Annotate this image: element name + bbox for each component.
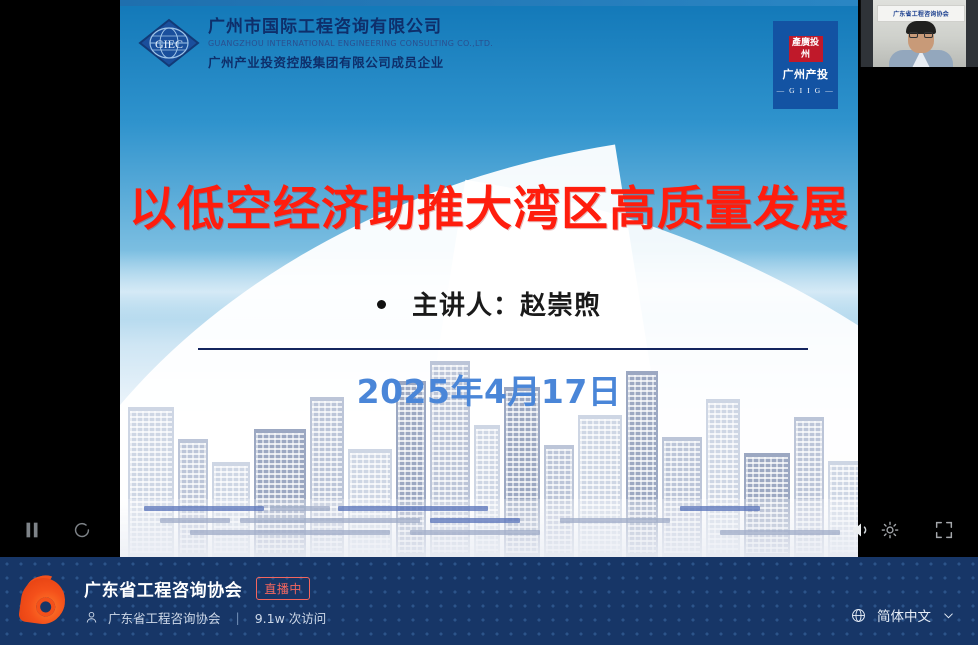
channel-info-bar: 广东省工程咨询协会 直播中 广东省工程咨询协会 | 9.1w 次访问 简体中文 xyxy=(0,557,978,645)
host-name: 广东省工程咨询协会 xyxy=(108,608,221,627)
company-name-en: GUANGZHOU INTERNATIONAL ENGINEERING CONS… xyxy=(208,39,493,48)
video-player[interactable]: GIEC 广州市国际工程咨询有限公司 GUANGZHOU INTERNATION… xyxy=(0,0,978,557)
pause-icon xyxy=(21,519,43,541)
pause-button[interactable] xyxy=(20,518,44,542)
channel-meta-row: 广东省工程咨询协会 | 9.1w 次访问 xyxy=(84,608,326,627)
reload-icon xyxy=(71,519,93,541)
channel-avatar[interactable] xyxy=(14,572,72,630)
globe-icon xyxy=(850,607,867,624)
channel-title-row: 广东省工程咨询协会 直播中 xyxy=(84,576,326,601)
pip-wall-banner: 广东省工程咨询协会 xyxy=(877,5,965,22)
slide-title: 以低空经济助推大湾区高质量发展 xyxy=(120,170,858,239)
settings-button[interactable] xyxy=(878,518,902,542)
person-icon xyxy=(84,610,99,625)
language-selector[interactable]: 简体中文 xyxy=(850,605,956,625)
bullet-icon xyxy=(377,300,386,309)
live-status-badge: 直播中 xyxy=(256,577,310,600)
slide-divider xyxy=(198,348,808,350)
slide-speaker-text: 主讲人：赵崇煦 xyxy=(412,291,601,321)
player-controls-right xyxy=(858,503,978,557)
slide-header: GIEC 广州市国际工程咨询有限公司 GUANGZHOU INTERNATION… xyxy=(120,8,858,100)
company-globe-emblem-icon: GIEC xyxy=(138,18,200,68)
volume-button[interactable] xyxy=(848,518,874,542)
slide-speaker: 主讲人：赵崇煦 xyxy=(120,285,858,322)
presentation-slide: GIEC 广州市国际工程咨询有限公司 GUANGZHOU INTERNATION… xyxy=(120,0,858,557)
pip-banner-text: 广东省工程咨询协会 xyxy=(893,9,949,18)
pip-right-edge xyxy=(966,0,978,67)
channel-avatar-flame-icon xyxy=(18,575,68,627)
company-member-note: 广州产业投资控股集团有限公司成员企业 xyxy=(208,52,493,71)
volume-icon xyxy=(849,518,873,542)
giig-name-en: — G I I G — xyxy=(777,86,835,95)
giig-name-cn: 广州产投 xyxy=(783,66,829,82)
company-name-cn: 广州市国际工程咨询有限公司 xyxy=(208,12,493,37)
channel-text-block: 广东省工程咨询协会 直播中 广东省工程咨询协会 | 9.1w 次访问 xyxy=(84,576,326,627)
svg-text:GIEC: GIEC xyxy=(155,37,183,51)
giig-logo-badge: 產廣投州 广州产投 — G I I G — xyxy=(773,21,838,109)
language-label: 简体中文 xyxy=(877,605,931,625)
fullscreen-icon xyxy=(933,519,955,541)
company-name-block: 广州市国际工程咨询有限公司 GUANGZHOU INTERNATIONAL EN… xyxy=(208,12,493,71)
picture-in-picture-webcam[interactable]: 广东省工程咨询协会 xyxy=(860,0,978,67)
player-controls-left xyxy=(0,503,120,557)
channel-title: 广东省工程咨询协会 xyxy=(84,576,242,601)
slide-top-band xyxy=(120,0,858,6)
pip-left-edge xyxy=(861,0,873,67)
fullscreen-button[interactable] xyxy=(932,518,956,542)
chevron-down-icon xyxy=(941,608,956,623)
pip-speaker-glasses xyxy=(909,32,933,38)
live-stream-page: GIEC 广州市国际工程咨询有限公司 GUANGZHOU INTERNATION… xyxy=(0,0,978,645)
meta-separator: | xyxy=(236,610,240,625)
reload-button[interactable] xyxy=(70,518,94,542)
gear-icon xyxy=(879,519,901,541)
giig-seal: 產廣投州 xyxy=(789,36,823,62)
visit-count: 9.1w 次访问 xyxy=(255,608,327,627)
slide-date: 2025年4月17日 xyxy=(120,365,858,413)
